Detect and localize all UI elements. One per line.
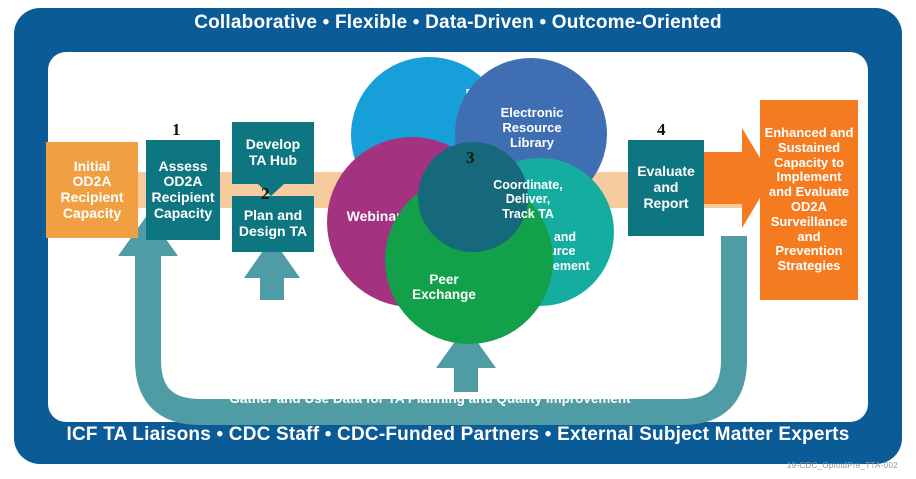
footer-document-code: 19-CDC_OpioidPre_TTA-002 — [0, 461, 898, 470]
box-outcome-enhanced-capacity: Enhanced and Sustained Capacity to Imple… — [760, 100, 858, 300]
circle-label-electronic: Electronic Resource Library — [473, 106, 591, 150]
bottom-banner-text: ICF TA Liaisons • CDC Staff • CDC-Funded… — [0, 424, 916, 446]
top-banner-text: Collaborative • Flexible • Data-Driven •… — [0, 12, 916, 34]
box-initial-capacity: Initial OD2A Recipient Capacity — [46, 142, 138, 238]
step-number-2: 2 — [261, 184, 270, 204]
box-assess-capacity: Assess OD2A Recipient Capacity — [146, 140, 220, 240]
circle-label-peer: Peer Exchange — [379, 272, 509, 303]
diagram-canvas: Collaborative • Flexible • Data-Driven •… — [0, 0, 916, 479]
box-plan-and-design-ta: Plan and Design TA — [232, 196, 314, 252]
box-develop-ta-hub: Develop TA Hub — [232, 122, 314, 184]
circle-label-center: Coordinate, Deliver, Track TA — [473, 178, 583, 221]
step-number-1: 1 — [172, 120, 181, 140]
step-number-4: 4 — [657, 120, 666, 140]
step-number-3: 3 — [466, 148, 475, 168]
feedback-loop-caption: Gather and Use Data for TA Planning and … — [150, 391, 710, 406]
box-evaluate-and-report: Evaluate and Report — [628, 140, 704, 236]
